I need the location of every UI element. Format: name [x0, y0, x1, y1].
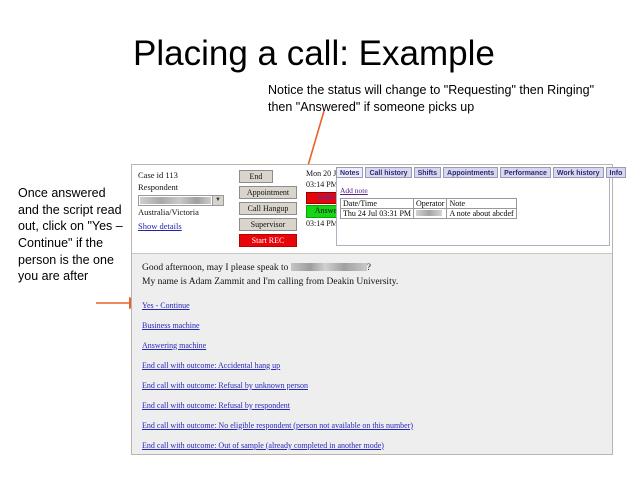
tab-work-history[interactable]: Work history: [553, 167, 604, 178]
respondent-select[interactable]: ▼: [138, 195, 224, 206]
tab-panel: Notes Call history Shifts Appointments P…: [336, 167, 610, 251]
tab-shifts[interactable]: Shifts: [414, 167, 441, 178]
app-header-area: Case id 113 Respondent ▼ Australia/Victo…: [132, 165, 612, 254]
script-question-mark: ?: [367, 263, 371, 273]
call-script-area: Good afternoon, may I please speak to ? …: [132, 254, 612, 454]
show-details-link[interactable]: Show details: [138, 220, 182, 232]
tab-performance[interactable]: Performance: [500, 167, 551, 178]
call-action-buttons: End Appointment Call Hangup Supervisor S…: [239, 170, 301, 250]
script-line-1: Good afternoon, may I please speak to ?: [142, 262, 602, 276]
tab-bar: Notes Call history Shifts Appointments P…: [336, 167, 610, 178]
end-button[interactable]: End: [239, 170, 273, 183]
link-outcome-accidental-hangup[interactable]: End call with outcome: Accidental hang u…: [142, 361, 602, 370]
column-header-operator: Operator: [414, 199, 447, 209]
link-outcome-no-eligible-respondent[interactable]: End call with outcome: No eligible respo…: [142, 421, 602, 430]
cell-operator: [414, 209, 447, 219]
operator-value-redacted: [416, 210, 442, 216]
notes-tab-content: Add note Date/Time Operator Note Thu 24 …: [336, 178, 610, 246]
table-header-row: Date/Time Operator Note: [341, 199, 517, 209]
cell-datetime: Thu 24 Jul 03:31 PM: [341, 209, 414, 219]
page-title: Placing a call: Example: [133, 36, 593, 73]
case-info-block: Case id 113 Respondent ▼ Australia/Victo…: [138, 169, 238, 232]
tab-call-history[interactable]: Call history: [365, 167, 411, 178]
link-outcome-out-of-sample[interactable]: End call with outcome: Out of sample (al…: [142, 441, 602, 450]
respondent-label: Respondent: [138, 181, 238, 193]
start-rec-button[interactable]: Start REC: [239, 234, 297, 247]
link-answering-machine[interactable]: Answering machine: [142, 341, 602, 350]
tab-notes[interactable]: Notes: [336, 167, 363, 178]
link-outcome-refusal-respondent[interactable]: End call with outcome: Refusal by respon…: [142, 401, 602, 410]
notes-table: Date/Time Operator Note Thu 24 Jul 03:31…: [340, 198, 517, 219]
column-header-note: Note: [447, 199, 516, 209]
link-yes-continue[interactable]: Yes - Continue: [142, 301, 602, 310]
case-id-label: Case id 113: [138, 169, 238, 181]
cell-note: A note about abcdef: [447, 209, 516, 219]
respondent-name-redacted: [291, 263, 367, 271]
respondent-value-redacted: [140, 197, 211, 204]
application-screenshot: Case id 113 Respondent ▼ Australia/Victo…: [131, 164, 613, 455]
column-header-datetime: Date/Time: [341, 199, 414, 209]
tab-info[interactable]: Info: [606, 167, 627, 178]
supervisor-button[interactable]: Supervisor: [239, 218, 297, 231]
script-line-2: My name is Adam Zammit and I'm calling f…: [142, 276, 602, 290]
call-hangup-button[interactable]: Call Hangup: [239, 202, 297, 215]
add-note-link[interactable]: Add note: [340, 186, 368, 195]
annotation-continue-note: Once answered and the script read out, c…: [18, 185, 128, 285]
timezone-label: Australia/Victoria: [138, 206, 238, 218]
outcome-link-list: Yes - Continue Business machine Answerin…: [142, 301, 602, 450]
link-outcome-refusal-unknown-person[interactable]: End call with outcome: Refusal by unknow…: [142, 381, 602, 390]
table-row[interactable]: Thu 24 Jul 03:31 PM A note about abcdef: [341, 209, 517, 219]
appointment-button[interactable]: Appointment: [239, 186, 297, 199]
script-greeting-text: Good afternoon, may I please speak to: [142, 263, 288, 273]
tab-appointments[interactable]: Appointments: [443, 167, 498, 178]
chevron-down-icon: ▼: [212, 196, 223, 205]
link-business-machine[interactable]: Business machine: [142, 321, 602, 330]
